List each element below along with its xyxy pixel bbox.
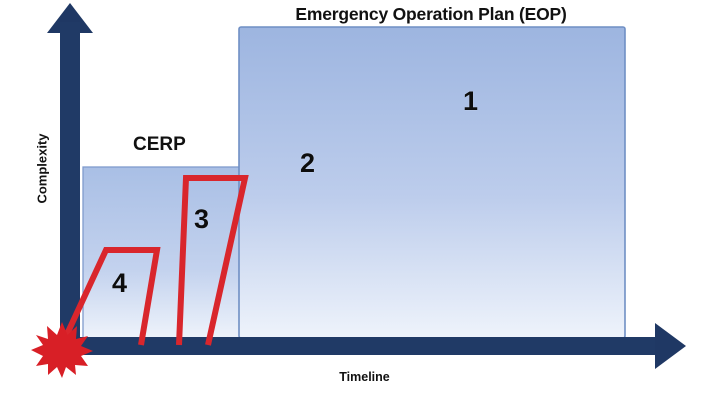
phase-number-2: 2 xyxy=(300,148,315,179)
arrow-right-icon xyxy=(655,323,686,369)
page-title: Emergency Operation Plan (EOP) xyxy=(0,4,707,25)
cerp-label: CERP xyxy=(133,134,186,156)
eop-block xyxy=(239,27,625,338)
diagram-canvas xyxy=(0,0,707,419)
phase-number-1: 1 xyxy=(463,86,478,117)
phase-number-3: 3 xyxy=(194,204,209,235)
y-axis-label: Complexity xyxy=(35,114,50,224)
eop-cerp-diagram: Emergency Operation Plan (EOP) CERP Comp… xyxy=(0,0,707,419)
x-axis-label: Timeline xyxy=(0,370,707,384)
page-title-text: Emergency Operation Plan (EOP) xyxy=(295,4,566,25)
phase-number-4: 4 xyxy=(112,268,127,299)
x-axis-label-text: Timeline xyxy=(339,370,389,384)
